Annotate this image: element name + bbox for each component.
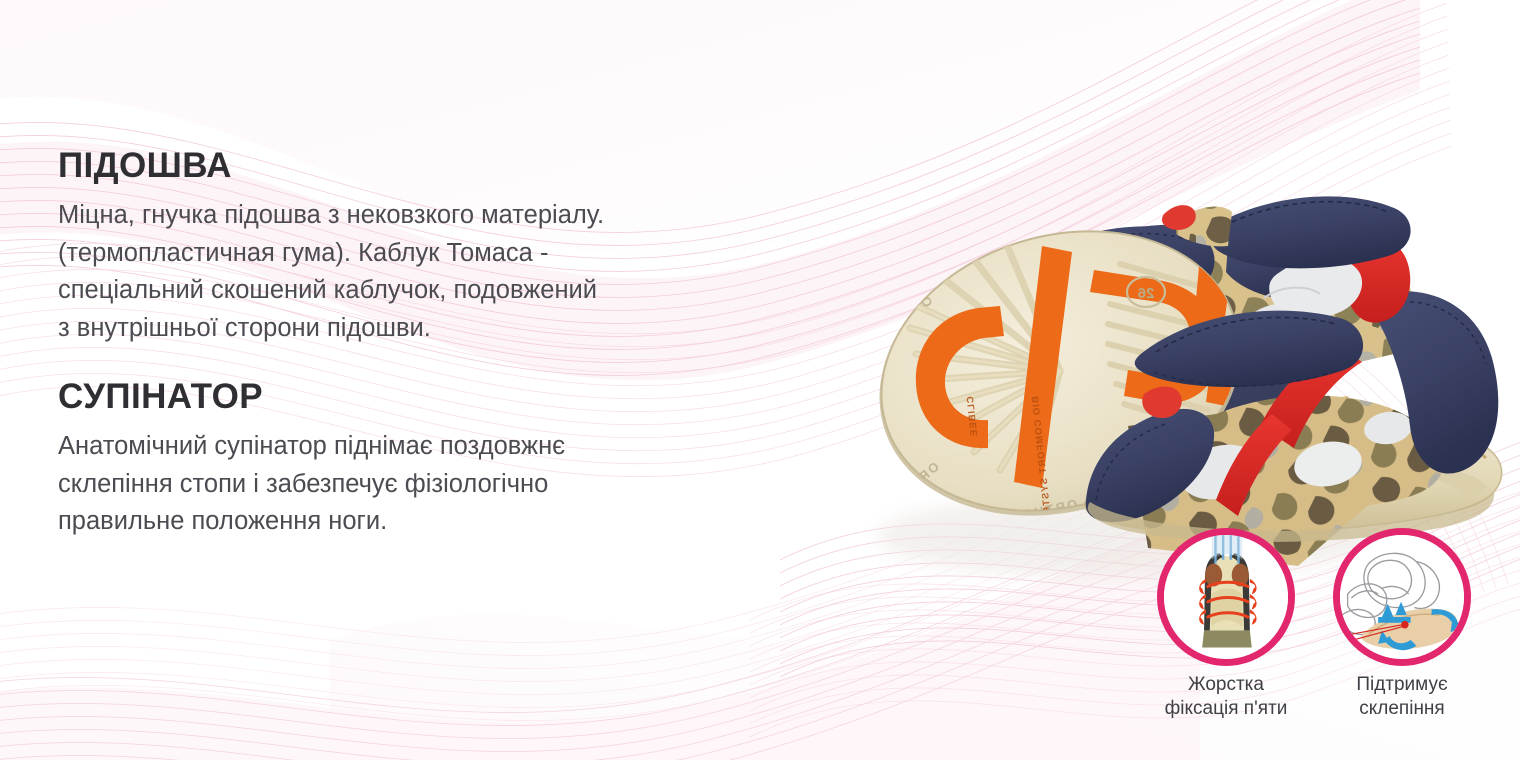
body-line: Анатомічний супінатор піднімає поздовжнє <box>58 428 848 465</box>
body-line: склепіння стопи і забезпечує фізіологічн… <box>58 466 848 503</box>
feature-block-arch-support: СУПІНАТОР Анатомічний супінатор піднімає… <box>58 377 848 541</box>
section-title-sole: ПІДОШВА <box>58 146 848 185</box>
section-title-arch-support: СУПІНАТОР <box>58 377 848 416</box>
badge-caption: Підтримує склепіння <box>1356 673 1447 721</box>
promo-banner: ПІДОШВА Міцна, гнучка підошва з нековзко… <box>0 0 1520 760</box>
velcro-strap-ankle <box>1211 196 1410 268</box>
body-line: правильне положення ноги. <box>58 503 848 540</box>
feature-block-sole: ПІДОШВА Міцна, гнучка підошва з нековзко… <box>58 146 848 347</box>
badge-arch-support[interactable]: Підтримує склепіння <box>1322 528 1482 721</box>
body-line: (термопластичная гума). Каблук Томаса - <box>58 235 848 272</box>
feature-badges: Жорстка фіксація п'яти <box>1146 528 1496 721</box>
size-value: 26 <box>1138 285 1155 302</box>
arch-support-icon <box>1340 535 1464 659</box>
heel-fixation-icon <box>1164 535 1288 659</box>
section-body-arch-support: Анатомічний супінатор піднімає поздовжнє… <box>58 428 848 540</box>
section-body-sole: Міцна, гнучка підошва з нековзкого матер… <box>58 197 848 347</box>
feature-text-column: ПІДОШВА Міцна, гнучка підошва з нековзко… <box>58 146 848 541</box>
badge-ring <box>1157 528 1295 666</box>
badge-ring <box>1333 528 1471 666</box>
badge-caption: Жорстка фіксація п'яти <box>1165 673 1288 721</box>
body-line: з внутрішньої сторони підошви. <box>58 310 848 347</box>
body-line: спеціальний скошений каблучок, подовжени… <box>58 272 848 309</box>
sole-orthopedic-text: ORTHOPEDIC <box>854 158 954 228</box>
badge-heel-fixation[interactable]: Жорстка фіксація п'яти <box>1146 528 1306 721</box>
sole-orthopedic-text: ORTHOPEDIC <box>888 201 936 309</box>
sole-orthopedic-text: ORTHOPEDIC <box>1020 197 1130 227</box>
body-line: Міцна, гнучка підошва з нековзкого матер… <box>58 197 848 234</box>
